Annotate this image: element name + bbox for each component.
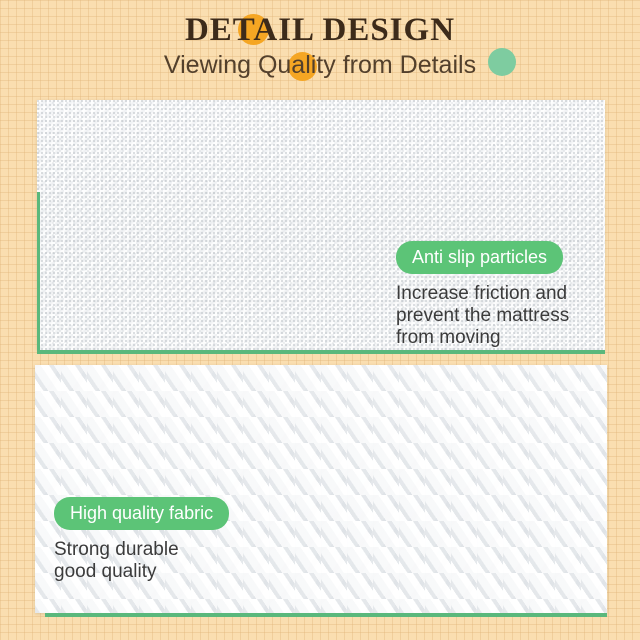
fabric-description: Strong durable good quality: [54, 539, 229, 583]
fabric-callout: High quality fabric Strong durable good …: [54, 497, 229, 583]
detail-design-page: DETAIL DESIGN Viewing Quality from Detai…: [0, 0, 640, 640]
anti-slip-panel-bottom-accent: [37, 350, 605, 354]
fabric-panel-bottom-accent: [45, 613, 607, 617]
anti-slip-panel-left-accent: [37, 192, 40, 354]
page-title: DETAIL DESIGN: [0, 12, 640, 48]
fabric-pill-label: High quality fabric: [54, 497, 229, 530]
anti-slip-callout: Anti slip particles Increase friction an…: [396, 241, 569, 349]
anti-slip-description: Increase friction and prevent the mattre…: [396, 283, 569, 349]
anti-slip-pill-label: Anti slip particles: [396, 241, 563, 274]
page-subtitle: Viewing Quality from Details: [0, 50, 640, 80]
page-header: DETAIL DESIGN Viewing Quality from Detai…: [0, 0, 640, 96]
